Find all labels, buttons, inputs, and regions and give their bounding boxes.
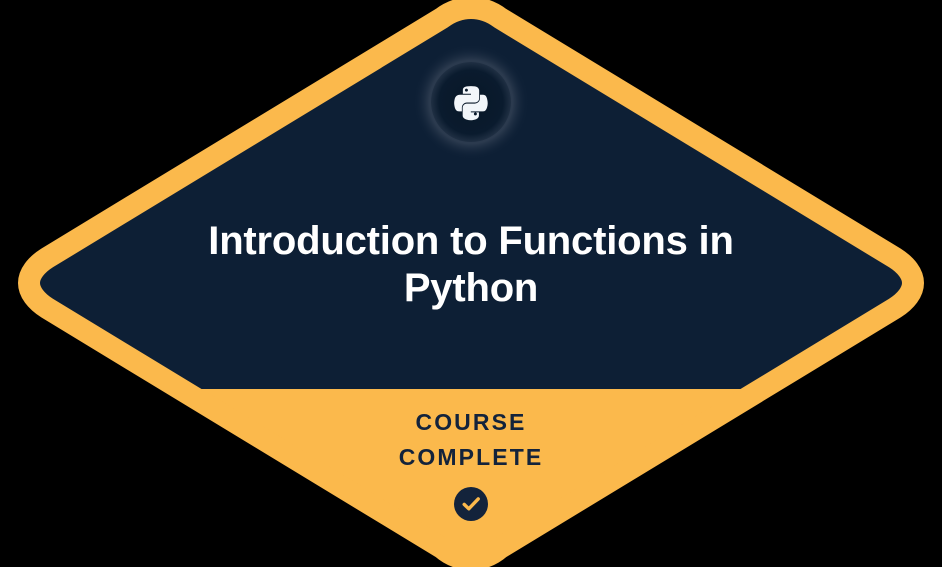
badge-stage: Introduction to Functions in Python COUR… <box>0 0 942 567</box>
badge-graphic <box>0 0 942 567</box>
badge-lower-panel <box>0 389 942 567</box>
badge-interior <box>0 0 942 567</box>
